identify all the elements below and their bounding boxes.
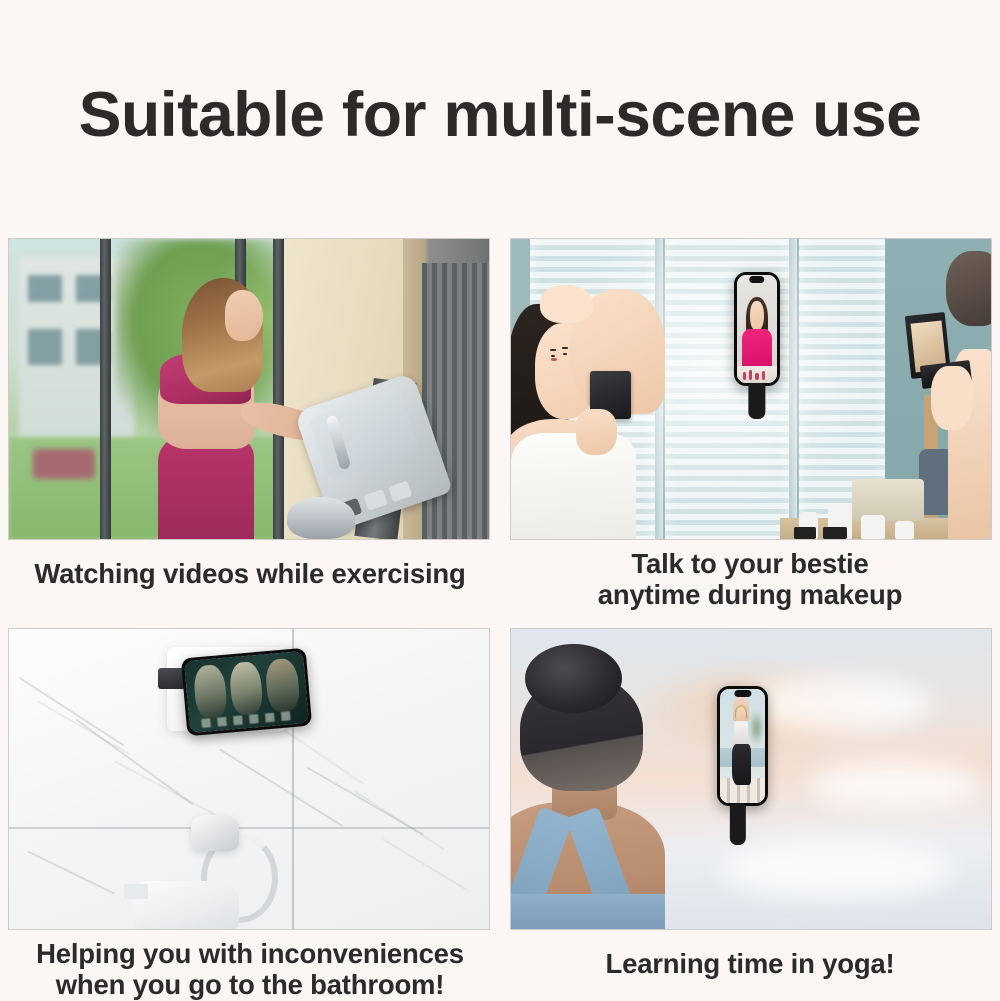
- caption-makeup: Talk to your bestie anytime during makeu…: [500, 548, 1000, 611]
- phone-strap-mount[interactable]: [748, 383, 765, 419]
- subject-camisole: [511, 433, 636, 540]
- cloud: [809, 761, 982, 809]
- toilet-paper-roll: [134, 881, 240, 929]
- phone-screen: [720, 689, 764, 803]
- sports-bra-band: [510, 894, 665, 929]
- video-tree: [749, 710, 764, 746]
- promo-page: Suitable for multi-scene use: [0, 0, 1000, 1000]
- pump-dispenser: [823, 527, 847, 539]
- subject-leggings: [158, 437, 254, 539]
- caption-bathroom: Helping you with inconveniences when you…: [0, 938, 500, 1001]
- videocall-cosmetic: [749, 370, 752, 380]
- subject-face: [225, 290, 263, 341]
- tile-seam: [9, 827, 489, 829]
- subject-eyebrow: [550, 349, 556, 351]
- makeup-scene: [511, 239, 991, 539]
- second-person-head: [946, 251, 992, 326]
- subject-hand-on-hair: [540, 285, 593, 323]
- second-person-hand: [931, 366, 973, 429]
- paper-holder-bracket: [124, 884, 148, 899]
- phone-screen: [184, 651, 309, 733]
- subject-eye: [563, 353, 567, 355]
- panel-makeup-image: [510, 238, 992, 540]
- video-instructor-top: [734, 721, 748, 746]
- panel-bathroom-image: [8, 628, 490, 930]
- subject-eye: [551, 355, 555, 357]
- gym-scene: [9, 239, 489, 539]
- second-person: [871, 251, 992, 539]
- videocall-person-face: [750, 301, 763, 331]
- treadmill-grip: [287, 497, 354, 539]
- makeup-subject: [510, 299, 741, 539]
- pump-dispenser: [794, 527, 816, 539]
- cloud: [722, 839, 952, 899]
- parked-car: [33, 449, 95, 479]
- yoga-scene: [511, 629, 991, 929]
- towel-ring-base: [191, 815, 239, 851]
- phone-screen: [737, 275, 777, 383]
- dynamic-island: [749, 276, 765, 283]
- building-window: [28, 329, 62, 365]
- subject-eyebrow: [562, 347, 568, 349]
- subject-hand-holding-mirror: [576, 409, 617, 455]
- phone-strap-mount[interactable]: [729, 803, 745, 845]
- videocall-person-top: [742, 329, 772, 366]
- dynamic-island: [734, 690, 751, 697]
- treadmill-button: [364, 489, 388, 511]
- video-instructor-leggings: [732, 744, 751, 785]
- videocall-cosmetic: [762, 371, 765, 380]
- page-title: Suitable for multi-scene use: [0, 84, 1000, 147]
- mounted-phone-movie[interactable]: [181, 648, 312, 737]
- mounted-phone-videocall[interactable]: [734, 272, 780, 386]
- window-mullion: [100, 239, 111, 539]
- bathroom-scene: [9, 629, 489, 929]
- yoga-subject: [510, 641, 751, 929]
- videocall-cosmetic: [743, 372, 746, 380]
- cloud: [741, 677, 933, 731]
- subject-hair-bun: [525, 644, 622, 713]
- panel-yoga-image: [510, 628, 992, 930]
- panel-exercise-image: [8, 238, 490, 540]
- building-window: [28, 275, 62, 302]
- caption-yoga: Learning time in yoga!: [500, 948, 1000, 979]
- treadmill-screen: [309, 387, 420, 480]
- caption-exercise: Watching videos while exercising: [0, 558, 500, 589]
- videocall-cosmetic: [755, 373, 758, 379]
- window-mullion: [273, 239, 284, 539]
- subject-lips: [551, 358, 557, 362]
- treadmill-button: [388, 480, 412, 502]
- mounted-phone-yoga[interactable]: [717, 686, 767, 806]
